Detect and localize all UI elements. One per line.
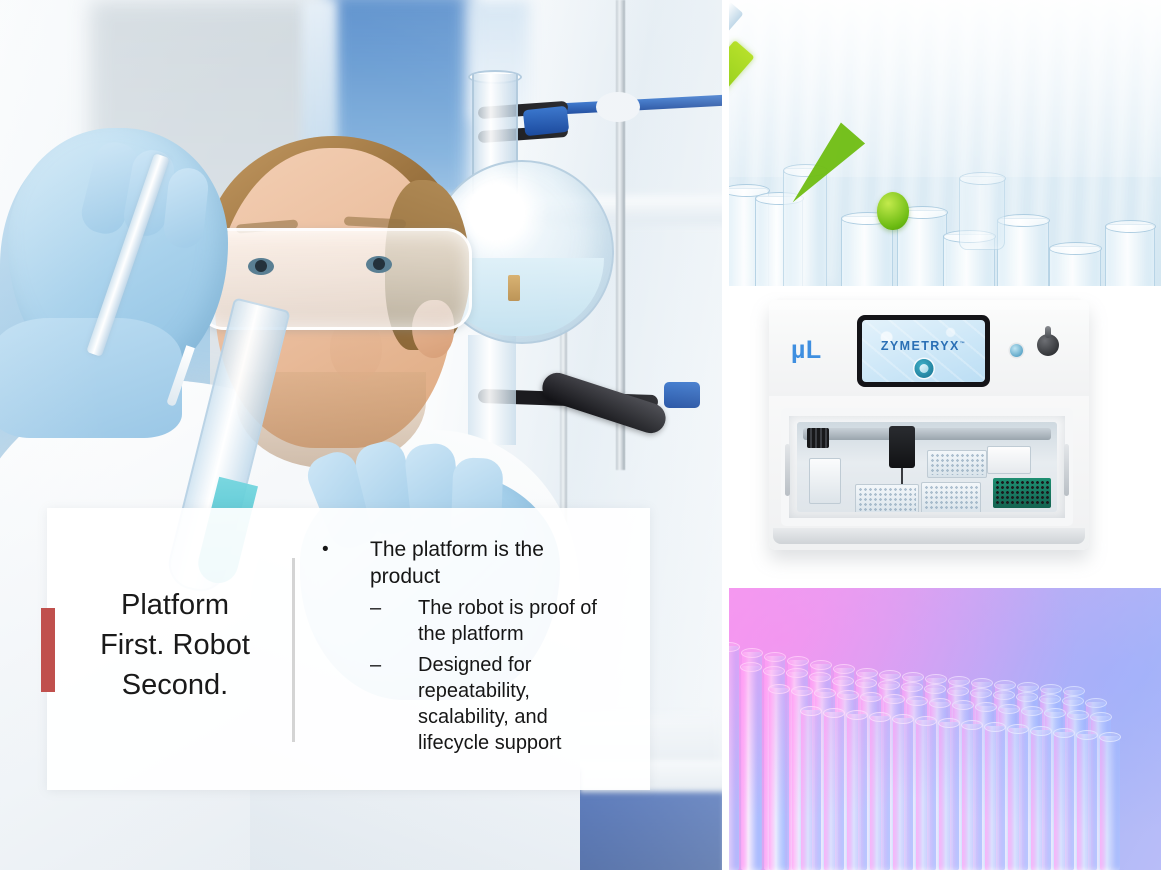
bullet-list: • The platform is the product – The robo… [318, 536, 618, 756]
test-tube-mid-2 [959, 176, 1005, 250]
reagent-trough [987, 446, 1031, 474]
door-handle-left[interactable] [785, 444, 790, 496]
test-tube-front-8 [1105, 224, 1155, 286]
page-title-line-2: First. Robot [62, 625, 288, 665]
gantry-rail [803, 428, 1051, 440]
instrument-deck-interior [797, 422, 1057, 512]
microplate-clear-3 [927, 450, 987, 478]
microplate-clear-1 [855, 484, 919, 512]
list-item: – The robot is proof of the platform [318, 595, 618, 647]
pipette-dispensing-photo [729, 0, 1161, 286]
sub-bullet-marker: – [370, 652, 418, 678]
microplate-green [993, 478, 1051, 508]
green-droplet [877, 192, 909, 230]
brand-mark-microliter: µL [791, 336, 822, 365]
accent-bar [41, 608, 55, 692]
neon-glow-overlay [729, 588, 1161, 870]
list-item: • The platform is the product [318, 536, 618, 590]
page-title-line-3: Second. [62, 665, 288, 705]
status-indicator-light [1010, 344, 1023, 357]
zymetryx-instrument-photo: µL ZYMETRYX™ [729, 292, 1161, 582]
screen-brand-text: ZYMETRYX [881, 339, 960, 353]
vertical-divider [292, 558, 295, 742]
instrument-touchscreen[interactable]: ZYMETRYX™ [857, 315, 990, 387]
touchscreen-display: ZYMETRYX™ [862, 320, 985, 382]
slide: µL ZYMETRYX™ [0, 0, 1161, 870]
list-item: – Designed for repeatability, scalabilit… [318, 652, 618, 756]
neon-test-tubes-photo [729, 588, 1161, 870]
microplate-clear-2 [921, 482, 981, 512]
trademark-symbol: ™ [960, 341, 966, 347]
page-title: Platform First. Robot Second. [62, 585, 288, 705]
instrument-glass-window [781, 408, 1073, 526]
screen-brand-label: ZYMETRYX™ [862, 339, 985, 353]
bullet-text: The platform is the product [370, 536, 618, 590]
sub-bullet-marker: – [370, 595, 418, 621]
sub-bullet-text: Designed for repeatability, scalability,… [418, 652, 606, 756]
deck-carrier [809, 458, 841, 504]
pipetting-head [889, 426, 915, 468]
sub-bullet-text: The robot is proof of the platform [418, 595, 606, 647]
test-tube-front-7 [1049, 246, 1101, 286]
bullet-marker: • [318, 536, 370, 563]
pipette-tip-rack [807, 428, 829, 448]
door-handle-right[interactable] [1064, 444, 1069, 496]
instrument-base [773, 528, 1085, 544]
background-haze [729, 0, 1161, 177]
power-knob[interactable] [1037, 334, 1059, 356]
company-logo-icon [914, 359, 933, 378]
page-title-line-1: Platform [62, 585, 288, 625]
